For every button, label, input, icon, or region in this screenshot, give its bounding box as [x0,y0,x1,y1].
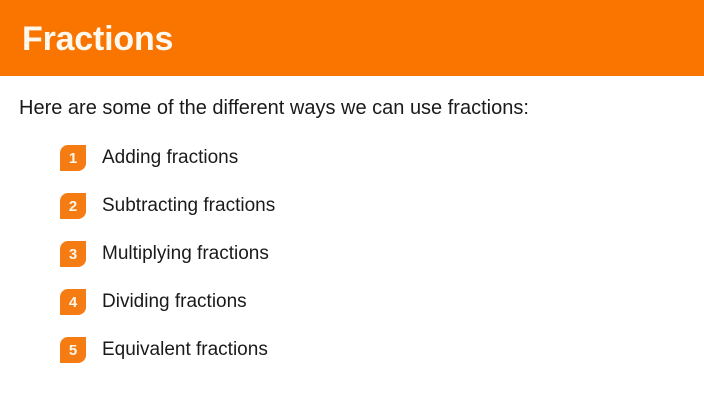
slide-header-band: Fractions [0,0,704,76]
list-item-label: Subtracting fractions [102,194,275,218]
list-item: 5 Equivalent fractions [0,326,704,374]
list-item: 2 Subtracting fractions [0,182,704,230]
list-item-label: Equivalent fractions [102,338,268,362]
intro-text: Here are some of the different ways we c… [19,95,529,121]
slide-body: Here are some of the different ways we c… [0,76,704,400]
list-item: 1 Adding fractions [0,134,704,182]
list-item: 4 Dividing fractions [0,278,704,326]
list-item-label: Dividing fractions [102,290,247,314]
number-badge-icon: 4 [60,289,86,315]
list-item: 3 Multiplying fractions [0,230,704,278]
number-badge-icon: 2 [60,193,86,219]
list-item-label: Adding fractions [102,146,238,170]
page-title: Fractions [22,19,173,59]
number-badge-icon: 1 [60,145,86,171]
slide: Fractions Here are some of the different… [0,0,704,400]
number-badge-icon: 3 [60,241,86,267]
number-badge-icon: 5 [60,337,86,363]
numbered-list: 1 Adding fractions 2 Subtracting fractio… [0,134,704,374]
list-item-label: Multiplying fractions [102,242,269,266]
